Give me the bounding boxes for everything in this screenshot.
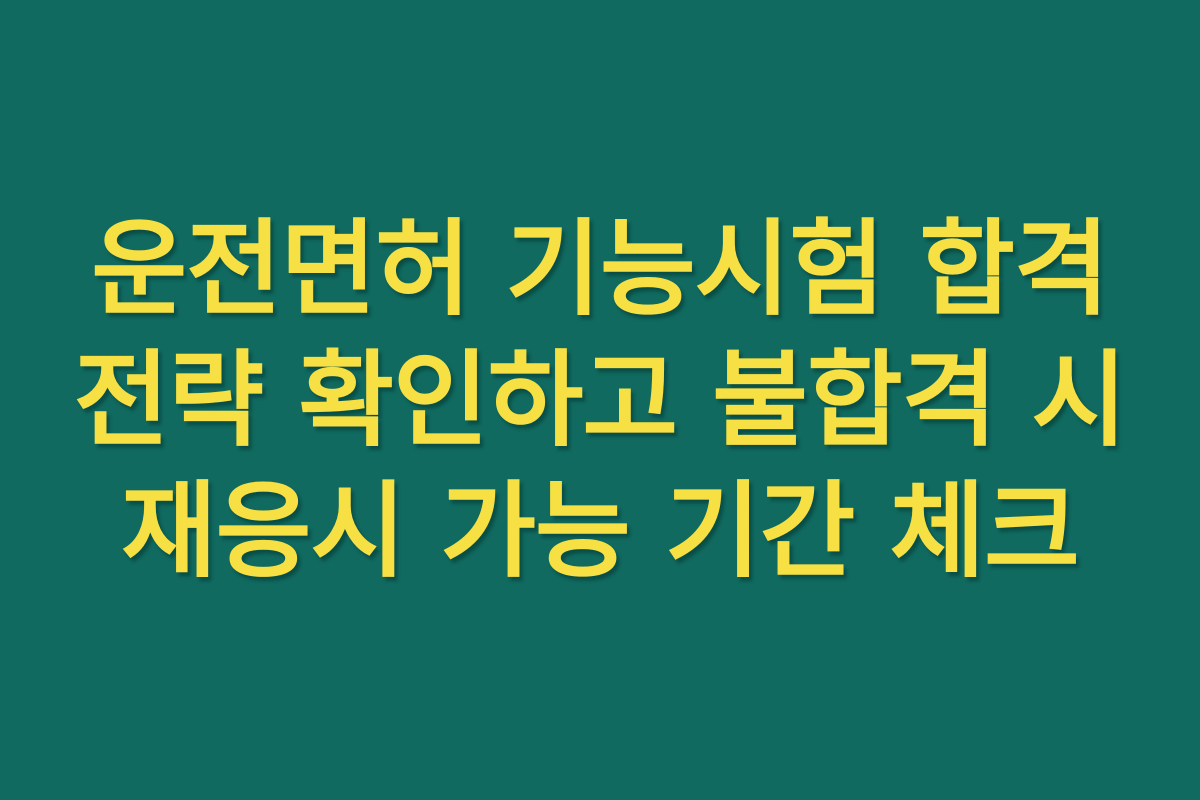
thumbnail-banner: 운전면허 기능시험 합격 전략 확인하고 불합격 시 재응시 가능 기간 체크 — [0, 0, 1200, 800]
headline-line-3: 재응시 가능 기간 체크 — [40, 466, 1160, 597]
headline-line-2: 전략 확인하고 불합격 시 — [40, 335, 1160, 466]
headline-line-1: 운전면허 기능시험 합격 — [40, 204, 1160, 335]
headline-text-block: 운전면허 기능시험 합격 전략 확인하고 불합격 시 재응시 가능 기간 체크 — [40, 204, 1160, 597]
